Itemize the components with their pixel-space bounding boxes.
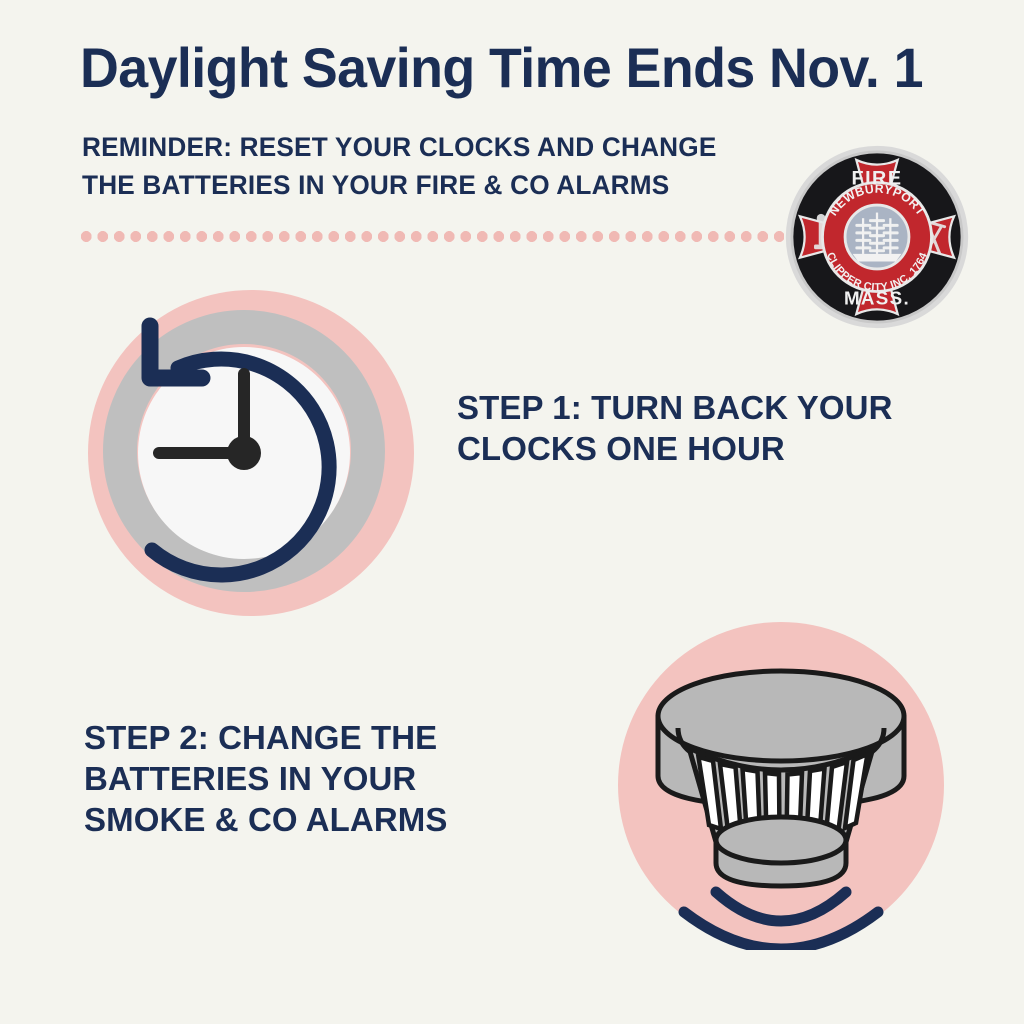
subtitle: REMINDER: RESET YOUR CLOCKS AND CHANGE T…: [82, 128, 800, 205]
dotted-divider: [78, 231, 784, 242]
subtitle-line-2: THE BATTERIES IN YOUR FIRE & CO ALARMS: [82, 166, 800, 204]
step-2-line-2: BATTERIES IN YOUR: [84, 759, 554, 800]
step-1-label: STEP 1: TURN BACK YOUR CLOCKS ONE HOUR: [457, 388, 977, 470]
step-1-line-1: STEP 1: TURN BACK YOUR: [457, 388, 977, 429]
step-1-line-2: CLOCKS ONE HOUR: [457, 429, 977, 470]
alarm-lower-face: [716, 817, 846, 863]
fire-department-badge-icon: FIRE MASS. NEWBURYPORT CLIPPER CITY INC.…: [783, 143, 971, 331]
step-2-line-3: SMOKE & CO ALARMS: [84, 800, 554, 841]
subtitle-line-1: REMINDER: RESET YOUR CLOCKS AND CHANGE: [82, 128, 800, 166]
step-2-line-1: STEP 2: CHANGE THE: [84, 718, 554, 759]
daylight-saving-infographic: Daylight Saving Time Ends Nov. 1 REMINDE…: [0, 0, 1024, 1024]
step-2-label: STEP 2: CHANGE THE BATTERIES IN YOUR SMO…: [84, 718, 554, 841]
clock-center-pin: [227, 436, 261, 470]
turn-back-clock-icon: [86, 288, 416, 618]
page-title: Daylight Saving Time Ends Nov. 1: [80, 38, 915, 98]
alarm-top-face: [658, 671, 904, 761]
smoke-alarm-icon: [616, 620, 946, 950]
